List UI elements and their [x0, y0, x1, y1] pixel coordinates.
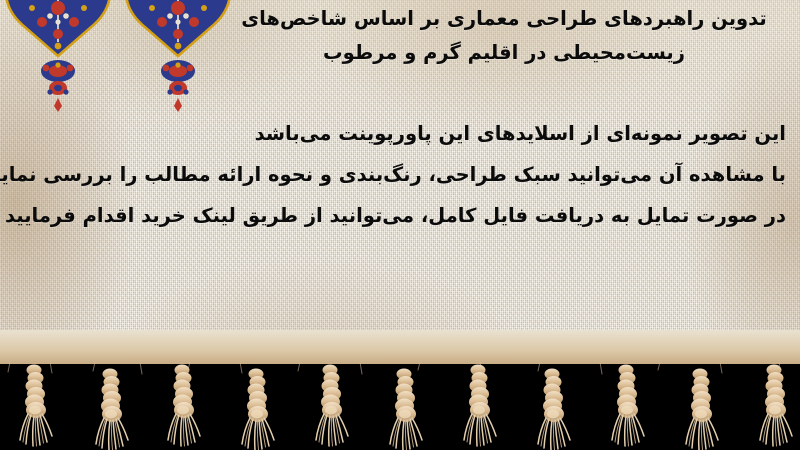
slide-body: این تصویر نمونه‌ای از اسلایدهای این پاور… — [11, 113, 786, 236]
body-line-3: در صورت تمایل به دریافت فایل کامل، می‌تو… — [11, 195, 786, 236]
body-line-2: با مشاهده آن می‌توانید سبک طراحی، رنگ‌بن… — [11, 154, 786, 195]
medallion-pendant — [161, 60, 195, 112]
carpet-medallion-ornament-right — [118, 0, 238, 124]
title-line-2: زیست‌محیطی در اقلیم گرم و مرطوب — [224, 36, 784, 70]
medallion-icon — [0, 0, 118, 120]
bottom-black-band — [0, 362, 800, 450]
title-line-1: تدوین راهبردهای طراحی معماری بر اساس شاخ… — [224, 2, 784, 36]
slide-canvas: تدوین راهبردهای طراحی معماری بر اساس شاخ… — [0, 0, 800, 450]
medallion-pendant — [41, 60, 75, 112]
carpet-medallion-ornament-left — [0, 0, 118, 124]
medallion-icon — [118, 0, 238, 120]
slide-title: تدوین راهبردهای طراحی معماری بر اساس شاخ… — [224, 2, 784, 70]
body-line-1: این تصویر نمونه‌ای از اسلایدهای این پاور… — [11, 113, 786, 154]
